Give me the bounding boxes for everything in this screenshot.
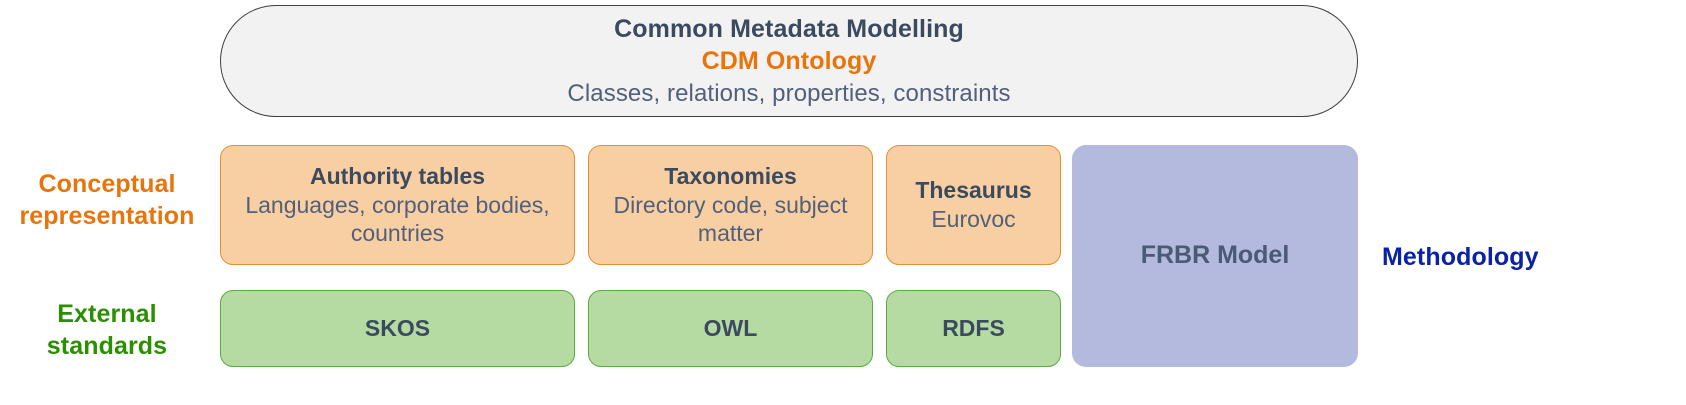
- node-taxonomies: Taxonomies Directory code, subject matte…: [588, 145, 873, 265]
- row-label-external-standards: External standards: [0, 298, 214, 362]
- row-label-conceptual-line2: representation: [0, 200, 214, 232]
- row-label-external-line2: standards: [0, 330, 214, 362]
- node-thesaurus-subtitle: Eurovoc: [931, 205, 1015, 234]
- node-frbr-model-title: FRBR Model: [1141, 240, 1290, 272]
- node-taxonomies-subtitle: Directory code, subject matter: [597, 191, 864, 249]
- node-skos-title: SKOS: [365, 314, 430, 343]
- row-label-conceptual-representation: Conceptual representation: [0, 168, 214, 232]
- node-thesaurus: Thesaurus Eurovoc: [886, 145, 1061, 265]
- diagram-canvas: Common Metadata Modelling CDM Ontology C…: [0, 0, 1686, 405]
- cdm-ontology-box: Common Metadata Modelling CDM Ontology C…: [220, 5, 1358, 117]
- node-frbr-model: FRBR Model: [1072, 145, 1358, 367]
- ontology-title: Common Metadata Modelling: [614, 13, 964, 46]
- ontology-subtitle: CDM Ontology: [702, 45, 877, 78]
- row-label-conceptual-line1: Conceptual: [0, 168, 214, 200]
- node-authority-tables-title: Authority tables: [310, 162, 485, 191]
- node-taxonomies-title: Taxonomies: [664, 162, 797, 191]
- node-thesaurus-title: Thesaurus: [915, 176, 1031, 205]
- ontology-description: Classes, relations, properties, constrai…: [567, 78, 1010, 109]
- node-owl-title: OWL: [704, 314, 758, 343]
- row-label-methodology: Methodology: [1382, 241, 1682, 273]
- node-rdfs: RDFS: [886, 290, 1061, 367]
- node-authority-tables: Authority tables Languages, corporate bo…: [220, 145, 575, 265]
- node-skos: SKOS: [220, 290, 575, 367]
- node-authority-tables-subtitle: Languages, corporate bodies, countries: [229, 191, 566, 249]
- node-rdfs-title: RDFS: [942, 314, 1005, 343]
- row-label-external-line1: External: [0, 298, 214, 330]
- node-owl: OWL: [588, 290, 873, 367]
